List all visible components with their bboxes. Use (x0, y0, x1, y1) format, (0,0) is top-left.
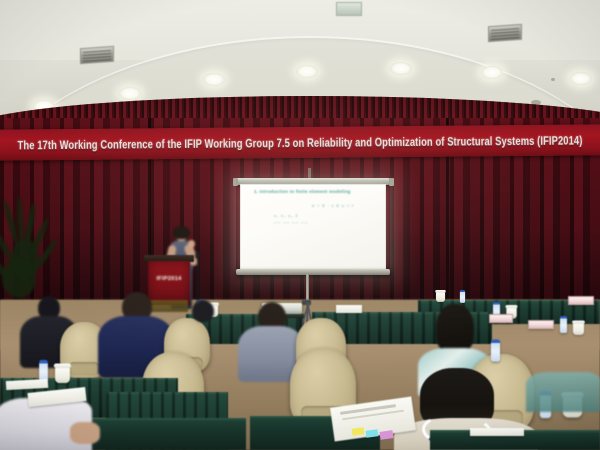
conference-banner-text: The 17th Working Conference of the IFIP … (17, 133, 582, 152)
cup-backtable-1 (436, 292, 445, 302)
attendee-front-left-white (0, 398, 114, 450)
screen-bar-cap-right (389, 178, 394, 186)
screen-bottom-bar (236, 269, 390, 275)
screen-bar-cap-left (233, 178, 238, 186)
water-bottle-mid-3 (560, 316, 567, 333)
slide-body-content: σ = E · ε K u = f x₁ x₂ x₃ Σ ── ── ── ── (256, 204, 376, 230)
attendee-front-left-hand (70, 422, 100, 444)
attendee-far-left-head-head (192, 300, 214, 322)
downlight-3 (203, 73, 225, 86)
conference-banner: The 17th Working Conference of the IFIP … (0, 124, 600, 160)
microphone-stand (197, 256, 199, 304)
water-bottle-front-2 (491, 339, 500, 361)
papers-front-right (470, 428, 524, 436)
ceiling-vent-left (80, 46, 114, 64)
lectern-logo-text: IFIP2014 (148, 276, 190, 282)
cup-front-1 (55, 367, 70, 383)
slide-row-2: x₁ x₂ x₃ Σ (274, 214, 299, 218)
speaker-hair (173, 226, 190, 239)
attendee-back-right (526, 372, 600, 412)
downlight-5 (390, 62, 412, 75)
name-card-mid-1 (489, 314, 513, 323)
speaker-hand (188, 240, 195, 248)
slide-row-3: ── ── ── ── (274, 221, 308, 225)
attendee-woman-hair (436, 304, 474, 354)
water-bottle-backtable-1 (460, 290, 465, 303)
projection-screen-surface: 1. Introduction to finite element modeli… (240, 184, 386, 270)
slide-row-1: σ = E · ε K u = f (312, 204, 354, 208)
ceiling-smoke-detector (336, 2, 362, 16)
name-card-backtable-1 (568, 296, 594, 305)
conference-photo-scene: The 17th Working Conference of the IFIP … (0, 0, 600, 450)
slide-title-text: 1. Introduction to finite element modeli… (254, 189, 376, 194)
downlight-6 (481, 66, 503, 79)
cup-mid-3 (573, 323, 584, 335)
downlight-4 (296, 65, 318, 78)
ceiling-vent-right (488, 24, 522, 42)
downlight-7 (570, 72, 592, 85)
ceiling-sprinkler-right (551, 78, 555, 81)
papers-mid-1 (336, 305, 362, 313)
name-card-mid-2 (528, 320, 554, 329)
attendee-back-right-body (526, 372, 600, 412)
